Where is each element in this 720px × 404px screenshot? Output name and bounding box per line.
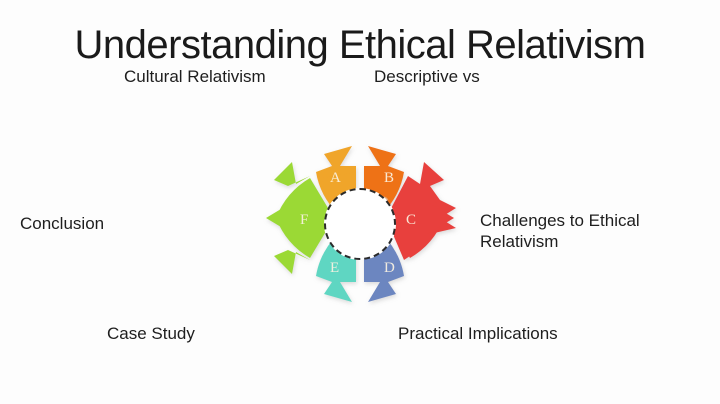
radial-arrow-diagram: A B C D [248, 122, 472, 326]
page-title: Understanding Ethical Relativism [0, 23, 720, 68]
label-descriptive-vs: Descriptive vs [374, 67, 480, 88]
label-challenges-to-ethical-relativism: Challenges to Ethical Relativism [480, 211, 640, 252]
segment-c-letter: C [406, 212, 416, 228]
segment-a-letter: A [330, 170, 341, 186]
slide-canvas: Understanding Ethical Relativism A B [0, 0, 720, 404]
segment-f-letter: F [300, 212, 308, 228]
segment-d-letter: D [384, 260, 395, 276]
segment-b-letter: B [384, 170, 394, 186]
center-hub-circle [324, 188, 396, 260]
label-conclusion: Conclusion [20, 214, 104, 235]
segment-e-letter: E [330, 260, 339, 276]
label-practical-implications: Practical Implications [398, 324, 558, 345]
label-cultural-relativism: Cultural Relativism [124, 67, 266, 88]
label-case-study: Case Study [107, 324, 195, 345]
